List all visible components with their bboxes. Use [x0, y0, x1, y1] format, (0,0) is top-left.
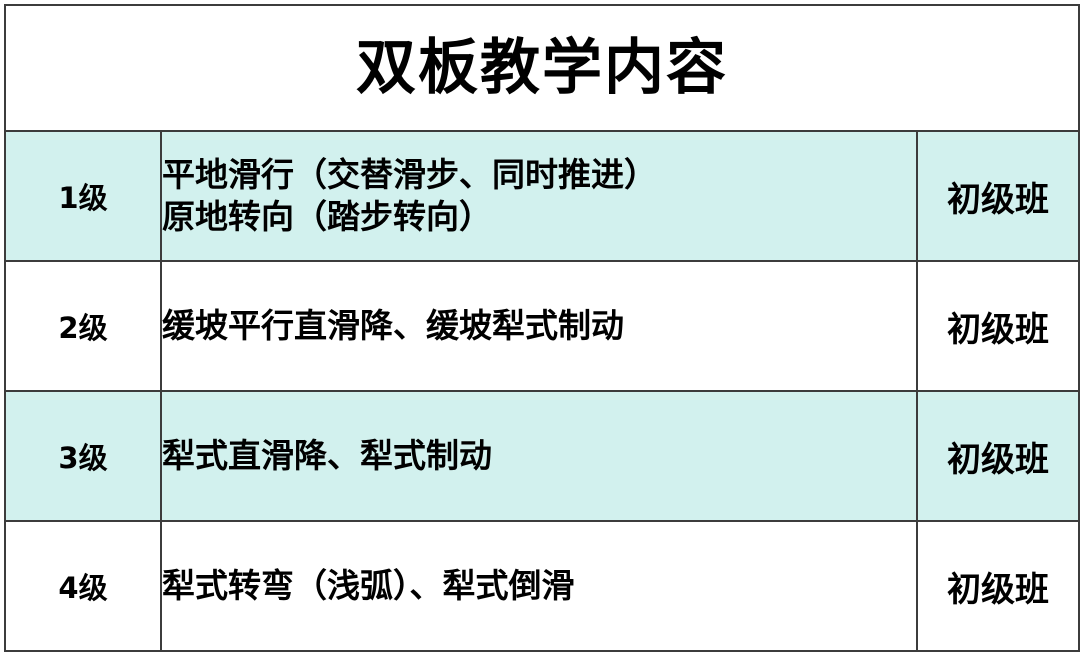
class-type-cell: 初级班	[917, 131, 1079, 261]
level-cell: 2级	[5, 261, 161, 391]
table-row: 4级 犁式转弯（浅弧）、犁式倒滑 初级班	[5, 521, 1079, 651]
level-cell: 1级	[5, 131, 161, 261]
level-cell: 4级	[5, 521, 161, 651]
class-type-label: 初级班	[918, 432, 1078, 481]
level-label: 3级	[6, 435, 160, 477]
content-line: 犁式直滑降、犁式制动	[162, 435, 916, 477]
content-cell: 犁式转弯（浅弧）、犁式倒滑	[161, 521, 917, 651]
content-line: 原地转向（踏步转向）	[162, 196, 916, 238]
class-type-cell: 初级班	[917, 261, 1079, 391]
level-cell: 3级	[5, 391, 161, 521]
content-cell: 缓坡平行直滑降、缓坡犁式制动	[161, 261, 917, 391]
class-type-cell: 初级班	[917, 521, 1079, 651]
table-row: 2级 缓坡平行直滑降、缓坡犁式制动 初级班	[5, 261, 1079, 391]
content-cell: 犁式直滑降、犁式制动	[161, 391, 917, 521]
level-label: 2级	[6, 305, 160, 347]
page-title: 双板教学内容	[6, 37, 1078, 100]
level-label: 1级	[6, 175, 160, 217]
title-row: 双板教学内容	[5, 5, 1079, 131]
table-body: 双板教学内容 1级 平地滑行（交替滑步、同时推进） 原地转向（踏步转向） 初级班…	[5, 5, 1079, 651]
content-cell: 平地滑行（交替滑步、同时推进） 原地转向（踏步转向）	[161, 131, 917, 261]
level-label: 4级	[6, 565, 160, 607]
content-line: 平地滑行（交替滑步、同时推进）	[162, 154, 916, 196]
class-type-cell: 初级班	[917, 391, 1079, 521]
class-type-label: 初级班	[918, 172, 1078, 221]
curriculum-table: 双板教学内容 1级 平地滑行（交替滑步、同时推进） 原地转向（踏步转向） 初级班…	[4, 4, 1080, 652]
document-sheet: 双板教学内容 1级 平地滑行（交替滑步、同时推进） 原地转向（踏步转向） 初级班…	[0, 0, 1080, 642]
content-line: 缓坡平行直滑降、缓坡犁式制动	[162, 305, 916, 347]
content-line: 犁式转弯（浅弧）、犁式倒滑	[162, 565, 916, 607]
table-title-cell: 双板教学内容	[5, 5, 1079, 131]
table-row: 3级 犁式直滑降、犁式制动 初级班	[5, 391, 1079, 521]
class-type-label: 初级班	[918, 562, 1078, 611]
class-type-label: 初级班	[918, 302, 1078, 351]
table-row: 1级 平地滑行（交替滑步、同时推进） 原地转向（踏步转向） 初级班	[5, 131, 1079, 261]
